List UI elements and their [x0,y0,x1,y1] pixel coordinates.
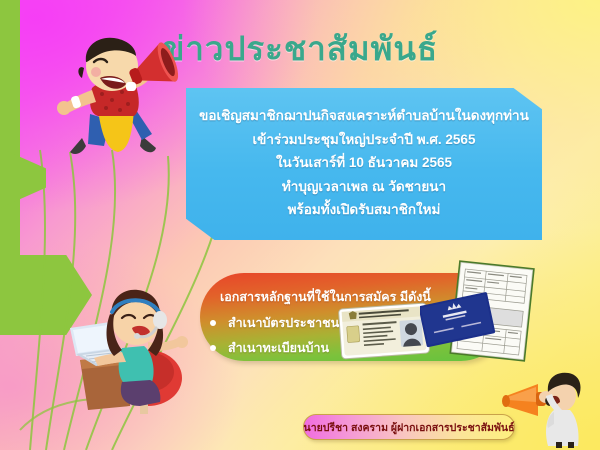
left-green-arrow-decoration [0,255,92,335]
left-green-wedge-decoration [0,148,46,208]
list-item: สำเนาบัตรประชาชน [210,313,339,333]
footer-name-badge: นายปรีชา สงคราม ผู้ฝากเอกสารประชาสัมพันธ… [303,414,515,440]
document-item-1: สำเนาบัตรประชาชน [228,313,339,333]
slide-canvas: ข่าวประชาสัมพันธ์ [0,0,600,450]
announcement-line-1: ขอเชิญสมาชิกฌาปนกิจสงเคราะห์ตำบลบ้านในดง… [199,109,529,123]
required-documents-list: สำเนาบัตรประชาชน สำเนาทะเบียนบ้าน [210,308,339,363]
bullet-dot-icon [210,320,216,326]
announcement-line-4: ทำบุญเวลาเพล ณ วัดชายนา [282,180,446,194]
bullet-dot-icon [210,345,216,351]
document-item-2: สำเนาทะเบียนบ้าน [228,338,329,358]
required-documents-heading: เอกสารหลักฐานที่ใช้ในการสมัคร มีดังนี้ [220,287,431,307]
announcement-line-2: เข้าร่วมประชุมใหญ่ประจำปี พ.ศ. 2565 [253,133,476,147]
announcement-line-5: พร้อมทั้งเปิดรับสมาชิกใหม่ [288,203,441,217]
announcement-box: ขอเชิญสมาชิกฌาปนกิจสงเคราะห์ตำบลบ้านในดง… [186,88,542,240]
person-with-orange-megaphone-illustration [500,368,592,448]
page-title: ข่าวประชาสัมพันธ์ [0,22,600,75]
announcement-line-3: ในวันเสาร์ที่ 10 ธันวาคม 2565 [276,156,452,170]
list-item: สำเนาทะเบียนบ้าน [210,338,339,358]
footer-name-label: นายปรีชา สงคราม ผู้ฝากเอกสารประชาสัมพันธ… [304,419,515,436]
